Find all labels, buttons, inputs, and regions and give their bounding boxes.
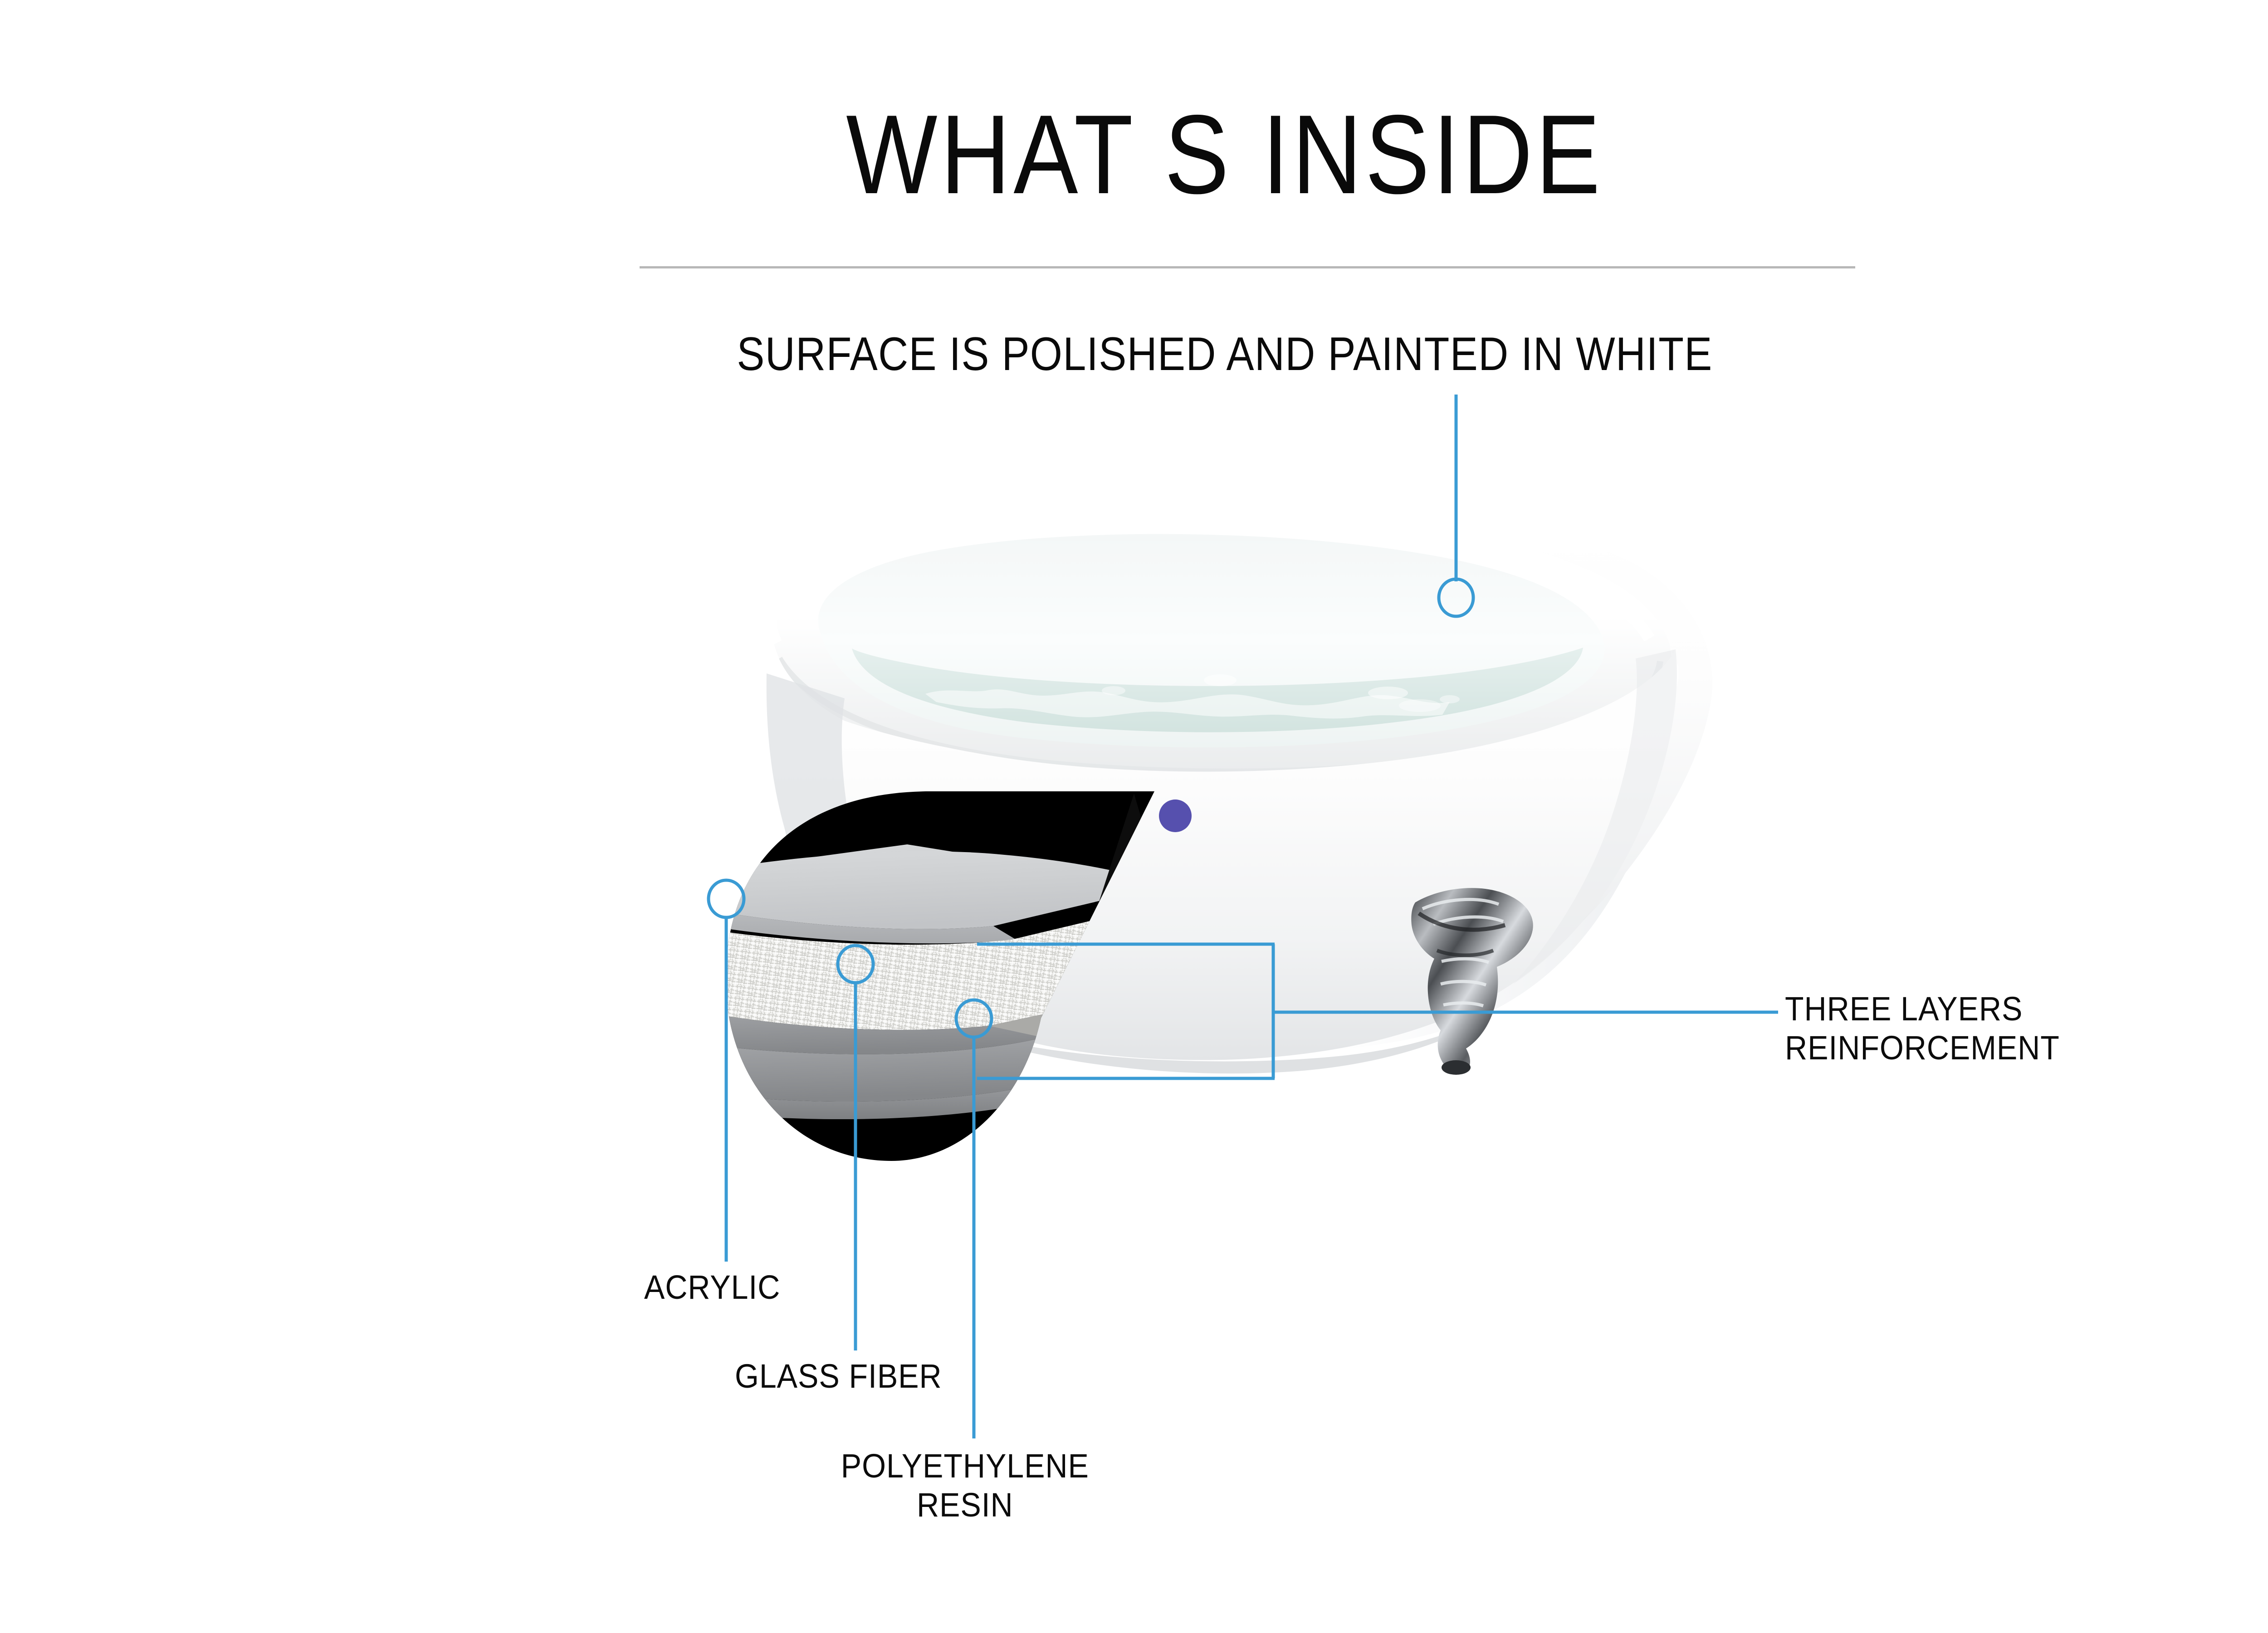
tub-rim [766,508,1672,780]
bathtub-cutaway-illustration [0,0,2268,1633]
marker-resin [956,1000,992,1037]
water-bubble-3 [1368,687,1408,699]
page-title: WHAT S INSIDE [171,95,2268,213]
marker-surface [1439,579,1473,616]
tub-front-face [767,649,1677,1060]
clawfoot-leg [1411,888,1533,1075]
tub-rim-shadow-edge [779,658,1660,772]
layer-glass-fiber [653,917,1107,1030]
polyethylene-resin-label: POLYETHYLENE RESIN [841,1447,1089,1525]
surface-callout-label: SURFACE IS POLISHED AND PAINTED IN WHITE [147,327,2268,381]
marker-glass-fiber [838,946,873,983]
water-bubble-1 [1204,674,1237,686]
layer-acrylic-top-wide [671,851,1166,929]
glass-fiber-label: GLASS FIBER [735,1357,942,1396]
water-bubble-4 [1440,695,1460,703]
water-bubble-2 [1102,686,1125,695]
tub-right-shading [1513,649,1677,984]
leader-lines [709,395,1778,1438]
cutaway-diagonal-highlight [1034,794,1161,1102]
layer-resin-body [635,1035,1043,1102]
water-bubble-5 [1399,699,1441,712]
water-foam [925,689,1450,718]
acrylic-label: ACRYLIC [644,1268,780,1307]
tub-left-shading [767,673,957,1021]
purple-marker-dot [1159,799,1192,832]
tub-slipper-back [1411,530,1712,1009]
cutaway-bubble [631,791,1192,1161]
layer-resin-edge [631,1083,1039,1119]
cutaway-background [726,791,1154,1161]
layer-acrylic-top [680,844,1161,928]
bathtub-graphic [631,508,1712,1161]
infographic-page: WHAT S INSIDE SURFACE IS POLISHED AND PA… [0,0,2268,1633]
tub-outer-body [781,648,1678,1053]
tub-interior [818,534,1605,748]
water-surface [852,648,1583,732]
marker-acrylic [709,880,744,917]
layer-acrylic-edge [671,903,1016,943]
tub-rim-highlight [771,525,1649,643]
title-divider [640,266,1855,268]
tub-front-lip [760,643,1679,804]
tub-bottom-edge [1012,1011,1497,1073]
layer-resin-top [644,1002,1043,1054]
layer-glass-fiber-shade [984,1011,1057,1043]
three-layers-label: THREE LAYERS REINFORCEMENT [1785,990,2060,1068]
